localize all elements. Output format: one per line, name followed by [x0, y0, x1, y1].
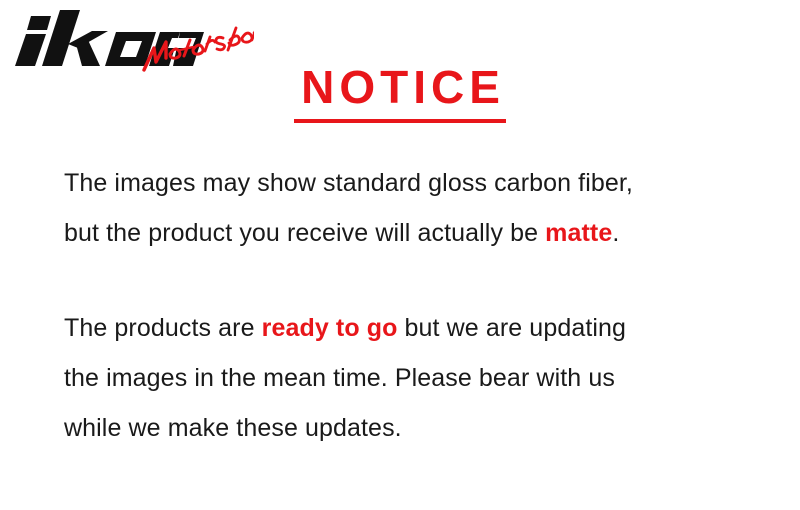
paragraph-line: but the product you receive will actuall… — [64, 208, 764, 258]
notice-heading-block: NOTICE — [0, 62, 800, 123]
text-run: but the product you receive will actuall… — [64, 219, 545, 247]
paragraph-line: while we make these updates. — [64, 403, 764, 453]
text-run: while we make these updates. — [64, 414, 402, 442]
paragraph-line: The products are ready to go but we are … — [64, 303, 764, 353]
page-title: NOTICE — [295, 62, 505, 116]
notice-body-copy: The images may show standard gloss carbo… — [64, 158, 764, 453]
text-run: The products are — [64, 314, 262, 342]
notice-banner: ikon Motorsports NOTICE The images may s… — [0, 0, 800, 510]
text-run: but we are updating — [397, 314, 626, 342]
paragraph-2: The products are ready to go but we are … — [64, 303, 764, 453]
text-run: The images may show standard gloss carbo… — [64, 169, 633, 197]
paragraph-line: The images may show standard gloss carbo… — [64, 158, 764, 208]
paragraph-line: the images in the mean time. Please bear… — [64, 353, 764, 403]
paragraph-1: The images may show standard gloss carbo… — [64, 158, 764, 258]
title-underline-rule — [294, 119, 506, 123]
text-run: . — [612, 219, 619, 247]
text-run: the images in the mean time. Please bear… — [64, 364, 615, 392]
emphasis-ready-to-go: ready to go — [262, 314, 398, 342]
emphasis-matte: matte — [545, 219, 612, 247]
